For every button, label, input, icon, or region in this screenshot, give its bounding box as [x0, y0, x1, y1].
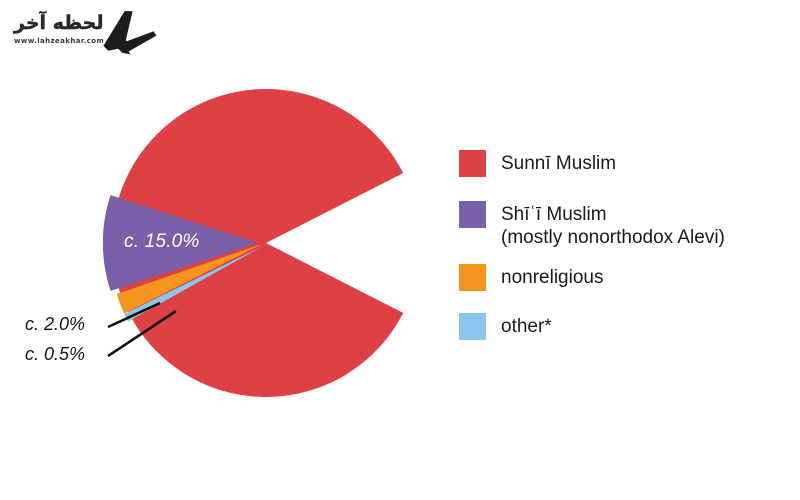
legend-label-shii: Shīʿī Muslim (mostly nonorthodox Alevi) — [501, 203, 725, 249]
legend-label-shii-text: Shīʿī Muslim — [501, 204, 607, 225]
pie-callout-label-nonreligious: c. 2.0% — [25, 314, 85, 335]
legend-swatch-nonreligious — [459, 264, 486, 291]
legend-label-sunni: Sunnī Muslim — [501, 152, 616, 175]
legend-label-sunni-text: Sunnī Muslim — [501, 153, 616, 174]
pie-chart-figure: لحظه آخر www.lahzeakhar.com c. 82.5% c. … — [0, 0, 800, 500]
pie-chart-graphic — [0, 0, 800, 500]
legend-swatch-sunni — [459, 150, 486, 177]
legend-sublabel-shii: (mostly nonorthodox Alevi) — [501, 226, 725, 249]
pie-label-shii: c. 15.0% — [124, 231, 200, 253]
pie-callout-label-other: c. 0.5% — [25, 344, 85, 365]
legend-label-other: other* — [501, 315, 552, 338]
legend-swatch-other — [459, 313, 486, 340]
legend-label-nonreligious: nonreligious — [501, 266, 603, 289]
legend-swatch-shii — [459, 201, 486, 228]
legend-label-other-text: other* — [501, 316, 552, 337]
legend-label-nonreligious-text: nonreligious — [501, 267, 603, 288]
pie-label-sunni: c. 82.5% — [313, 231, 389, 253]
